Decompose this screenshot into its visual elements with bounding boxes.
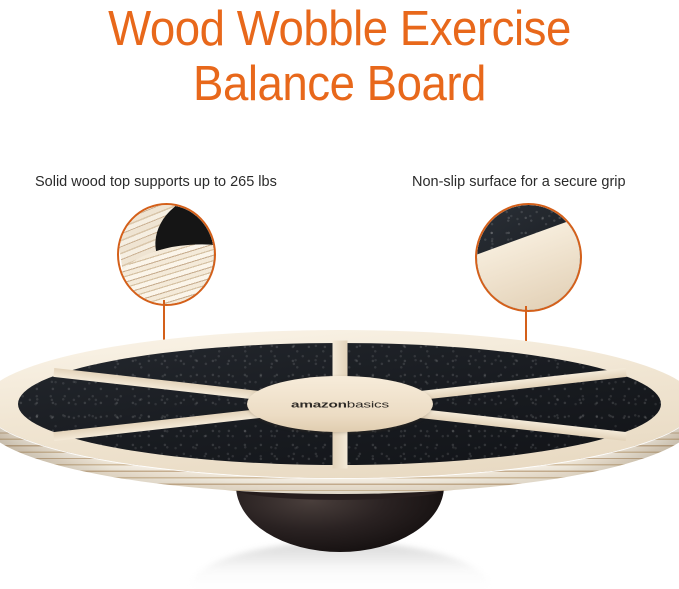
callout-circle-right [475, 203, 582, 312]
callout-left-image [119, 205, 214, 304]
page-title: Wood Wobble Exercise Balance Board [0, 2, 679, 112]
logo-basics: basics [346, 399, 388, 410]
callout-caption-left: Solid wood top supports up to 265 lbs [35, 173, 277, 191]
product-infographic: Wood Wobble Exercise Balance Board Solid… [0, 0, 679, 589]
callout-right-image [477, 205, 580, 310]
board-top-face: amazonbasics [0, 330, 679, 478]
product-image-balance-board: amazonbasics [0, 326, 679, 589]
callout-circle-left [117, 203, 216, 306]
logo-amazon: amazon [291, 399, 347, 410]
title-line-1: Wood Wobble Exercise [24, 2, 655, 57]
center-hub: amazonbasics [247, 376, 433, 432]
callout-caption-right: Non-slip surface for a secure grip [412, 173, 626, 191]
title-line-2: Balance Board [24, 57, 655, 112]
amazonbasics-logo: amazonbasics [291, 399, 389, 410]
